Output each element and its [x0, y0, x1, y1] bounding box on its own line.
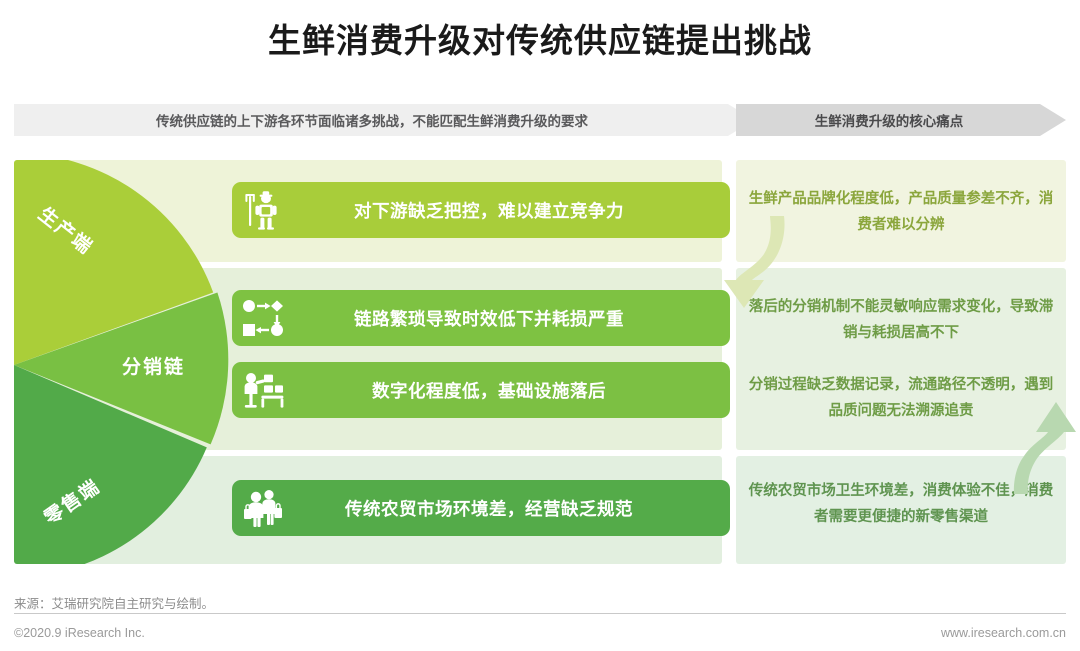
- header-band: 传统供应链的上下游各环节面临诸多挑战，不能匹配生鲜消费升级的要求 生鲜消费升级的…: [14, 104, 1066, 136]
- challenge-card-3-label: 数字化程度低，基础设施落后: [294, 378, 730, 403]
- footer-divider: [14, 613, 1066, 614]
- header-band-left-segment: 传统供应链的上下游各环节面临诸多挑战，不能匹配生鲜消费升级的要求: [14, 104, 754, 136]
- page-title: 生鲜消费升级对传统供应链提出挑战: [0, 14, 1080, 62]
- supply-chain-panel: 生产端 分销链 零售端: [14, 160, 722, 564]
- fan-label-distribution: 分销链: [122, 352, 185, 379]
- challenge-card-2[interactable]: 链路繁琐导致时效低下并耗损严重: [232, 290, 730, 346]
- pain-point-1: 生鲜产品品牌化程度低，产品质量参差不齐，消费者难以分辨: [746, 186, 1056, 238]
- source-note: 来源：艾瑞研究院自主研究与绘制。: [14, 593, 214, 612]
- pain-point-2: 落后的分销机制不能灵敏响应需求变化，导致滞销与耗损居高不下: [746, 294, 1056, 346]
- header-band-right-segment: 生鲜消费升级的核心痛点: [736, 104, 1066, 136]
- shoppers-icon: [232, 480, 294, 536]
- challenge-card-4[interactable]: 传统农贸市场环境差，经营缺乏规范: [232, 480, 730, 536]
- challenge-card-1[interactable]: 对下游缺乏把控，难以建立竞争力: [232, 182, 730, 238]
- farmer-pitchfork-icon: [232, 182, 294, 238]
- challenge-card-3[interactable]: 数字化程度低，基础设施落后: [232, 362, 730, 418]
- supply-chain-flow-icon: [232, 290, 294, 346]
- copyright-text: ©2020.9 iResearch Inc.: [14, 626, 145, 640]
- pain-point-3: 分销过程缺乏数据记录，流通路径不透明，遇到品质问题无法溯源追责: [746, 372, 1056, 424]
- challenge-card-1-label: 对下游缺乏把控，难以建立竞争力: [294, 198, 730, 223]
- header-band-right-label: 生鲜消费升级的核心痛点: [815, 110, 988, 130]
- challenge-card-4-label: 传统农贸市场环境差，经营缺乏规范: [294, 496, 730, 521]
- header-band-left-label: 传统供应链的上下游各环节面临诸多挑战，不能匹配生鲜消费升级的要求: [156, 110, 612, 130]
- warehouse-worker-icon: [232, 362, 294, 418]
- pain-point-4: 传统农贸市场卫生环境差，消费体验不佳，消费者需要更便捷的新零售渠道: [746, 478, 1056, 530]
- website-url[interactable]: www.iresearch.com.cn: [941, 626, 1066, 640]
- challenge-card-2-label: 链路繁琐导致时效低下并耗损严重: [294, 306, 730, 331]
- pain-points-panel: 生鲜产品品牌化程度低，产品质量参差不齐，消费者难以分辨 落后的分销机制不能灵敏响…: [736, 160, 1066, 564]
